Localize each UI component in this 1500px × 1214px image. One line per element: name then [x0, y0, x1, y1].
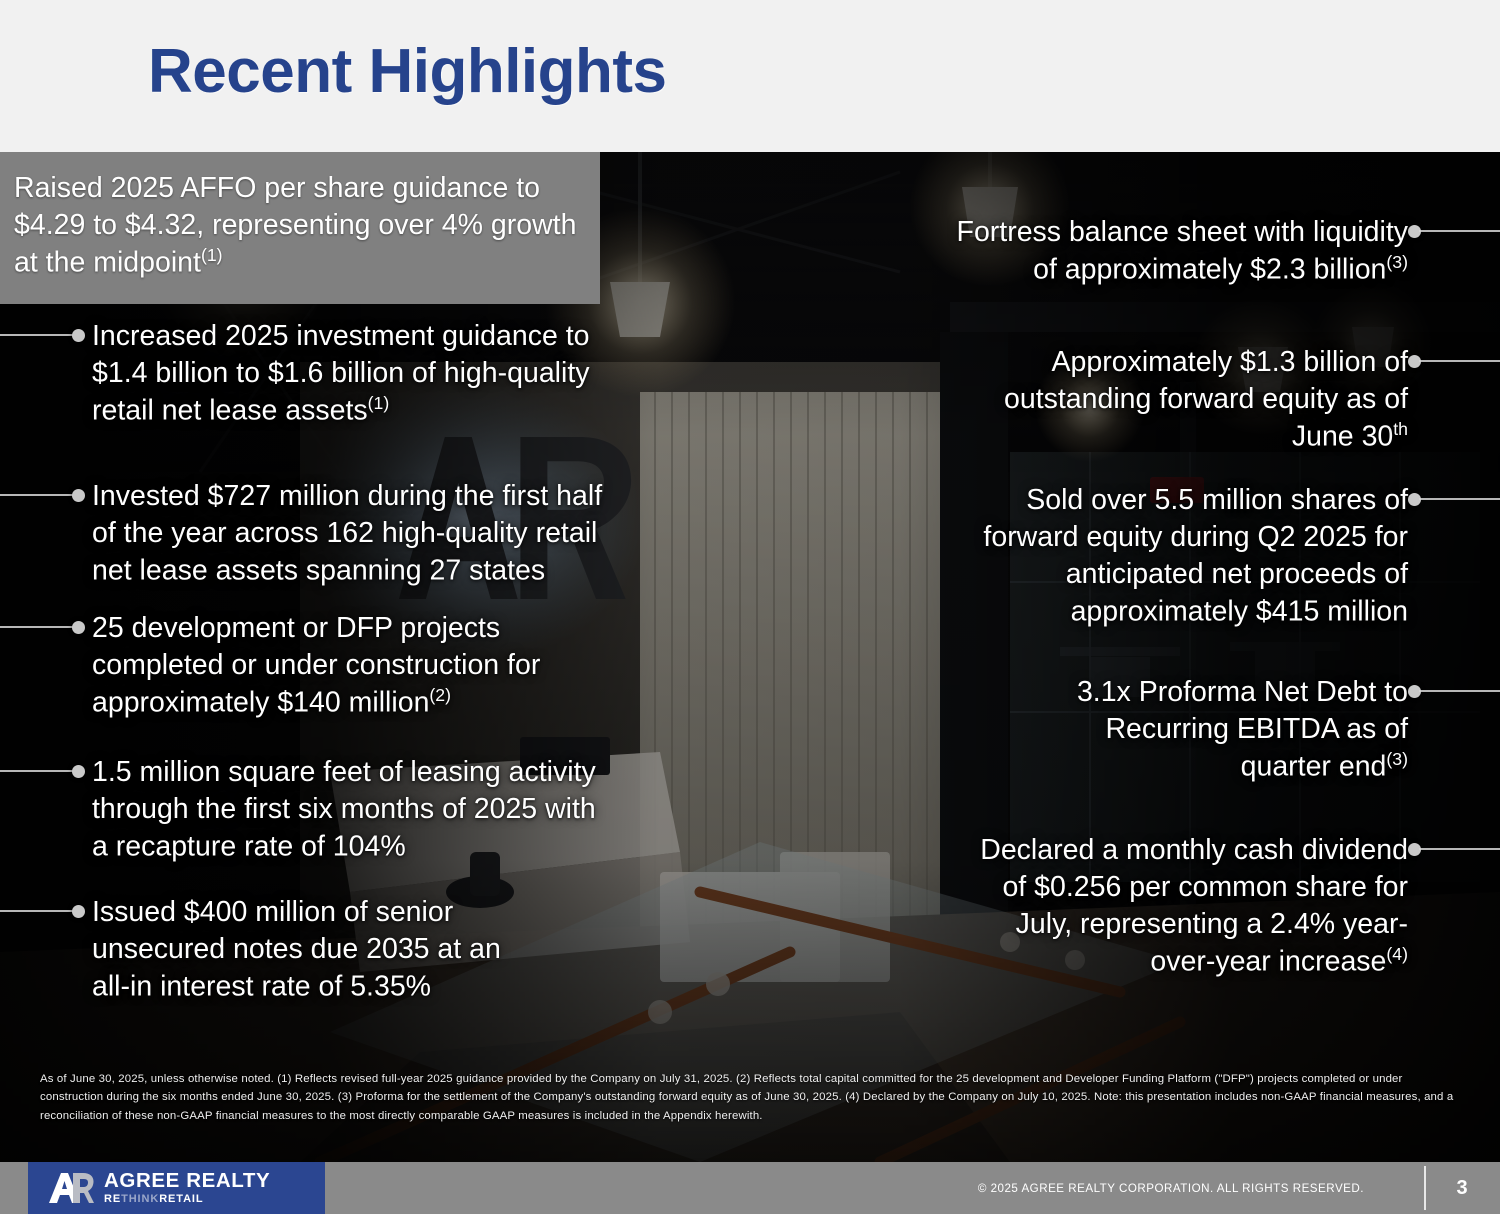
bullet-right-4: 3.1x Proforma Net Debt to Recurring EBIT… [848, 674, 1408, 786]
bullet-left-3: 25 development or DFP projects completed… [92, 610, 652, 722]
brand-tagline: RETHINKRETAIL [104, 1194, 270, 1205]
connector-left-3 [0, 620, 92, 634]
bullet-text: Increased 2025 investment guidance to $1… [92, 318, 652, 430]
bullet-left-4: 1.5 million square feet of leasing activ… [92, 754, 652, 866]
footnote-marker: th [1393, 419, 1408, 439]
bullet-text: Invested $727 million during the first h… [92, 478, 652, 590]
footnotes: As of June 30, 2025, unless otherwise no… [40, 1070, 1465, 1125]
bullet-text: Sold over 5.5 million shares of forward … [848, 482, 1408, 631]
bullet-right-2: Approximately $1.3 billion of outstandin… [848, 344, 1408, 456]
bullet-right-3: Sold over 5.5 million shares of forward … [848, 482, 1408, 631]
bullet-text: Declared a monthly cash dividend of $0.2… [848, 832, 1408, 981]
bullet-right-5: Declared a monthly cash dividend of $0.2… [848, 832, 1408, 981]
footnote-marker: (4) [1386, 944, 1408, 964]
footnote-marker: (3) [1386, 252, 1408, 272]
background-photo: Raised 2025 AFFO per share guidance to $… [0, 152, 1500, 1162]
highlight-callout-text: Raised 2025 AFFO per share guidance to $… [14, 170, 578, 282]
footnote-marker: (1) [368, 393, 390, 413]
copyright-text: © 2025 AGREE REALTY CORPORATION. ALL RIG… [978, 1162, 1364, 1214]
connector-right-3 [1408, 492, 1500, 506]
connector-right-5 [1408, 842, 1500, 856]
highlight-callout-box: Raised 2025 AFFO per share guidance to $… [0, 152, 600, 304]
tagline-retail: RETAIL [159, 1193, 203, 1205]
bullet-text: Approximately $1.3 billion of outstandin… [848, 344, 1408, 456]
bullet-left-5: Issued $400 million of senior unsecured … [92, 894, 652, 1006]
footnote-marker: (1) [201, 245, 223, 265]
page-title: Recent Highlights [148, 36, 667, 107]
connector-left-5 [0, 904, 92, 918]
brand-text: AGREE REALTY RETHINKRETAIL [104, 1171, 270, 1206]
footnote-marker: (3) [1386, 749, 1408, 769]
connector-right-1 [1408, 224, 1500, 238]
bullet-text: Fortress balance sheet with liquidity of… [848, 214, 1408, 289]
bullet-text: 1.5 million square feet of leasing activ… [92, 754, 652, 866]
connector-left-4 [0, 764, 92, 778]
bullet-right-1: Fortress balance sheet with liquidity of… [848, 214, 1408, 289]
slide: Recent Highlights [0, 0, 1500, 1214]
bullet-left-2: Invested $727 million during the first h… [92, 478, 652, 590]
tagline-re: RE [104, 1193, 121, 1205]
connector-right-2 [1408, 354, 1500, 368]
bullet-text: 25 development or DFP projects completed… [92, 610, 652, 722]
agree-realty-ar-logo-icon [46, 1171, 94, 1205]
brand-name: AGREE REALTY [104, 1171, 270, 1192]
bullet-text: 3.1x Proforma Net Debt to Recurring EBIT… [848, 674, 1408, 786]
connector-left-1 [0, 328, 92, 342]
bullet-text: Issued $400 million of senior unsecured … [92, 894, 652, 1006]
tagline-think: THINK [121, 1193, 159, 1205]
brand-logo: AGREE REALTY RETHINKRETAIL [28, 1162, 325, 1214]
bullet-left-1: Increased 2025 investment guidance to $1… [92, 318, 652, 430]
title-band: Recent Highlights [0, 0, 1500, 152]
connector-left-2 [0, 488, 92, 502]
connector-right-4 [1408, 684, 1500, 698]
footer-bar: AGREE REALTY RETHINKRETAIL © 2025 AGREE … [0, 1162, 1500, 1214]
footnote-marker: (2) [429, 685, 451, 705]
page-number: 3 [1424, 1162, 1500, 1214]
